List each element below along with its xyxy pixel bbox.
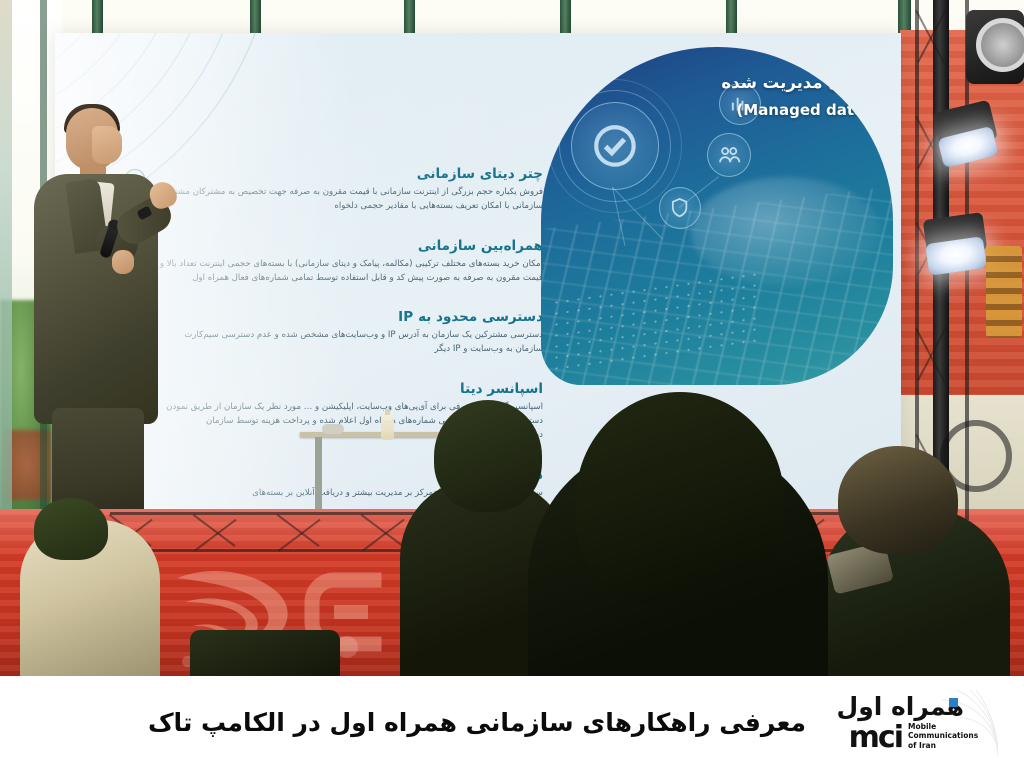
presenter (30, 108, 178, 520)
bullet-body: امکان خرید بسته‌های مختلف ترکیبی (مکالمه… (156, 258, 543, 286)
bullet-heading: همراه‌بین سازمانی (156, 237, 543, 256)
rail-clamp (322, 424, 344, 434)
logo-tagline: Mobile Communications of Iran (908, 722, 974, 750)
audience-head-left (34, 498, 108, 560)
bullet-body: دسترسی مشترکین یک سازمان به آدرس IP و وب… (156, 329, 543, 357)
hand-on-keyboard (691, 177, 881, 287)
people-icon (707, 133, 751, 177)
logo-brand-fa: همراه اول (837, 692, 964, 721)
bullet-heading: چتر دیتای سازمانی (156, 165, 543, 184)
check-gear-icon (571, 102, 659, 190)
presenter-hand-right (112, 250, 134, 274)
audience-chair (190, 630, 340, 676)
logo-tagline-line2: Communications (908, 731, 974, 740)
panel-title-fa: دیتای مدیریت شده (721, 71, 871, 96)
bullet-heading: اسپانسر دیتا (156, 380, 543, 399)
bullet-item: دسترسی محدود به IP دسترسی مشترکین یک ساز… (123, 308, 543, 357)
caption-bar: معرفی راهکارهای سازمانی همراه اول در الک… (0, 676, 1024, 768)
amber-light-panel (986, 246, 1022, 338)
bullet-item: همراه‌بین سازمانی امکان خرید بسته‌های مخ… (123, 237, 543, 286)
moving-head-light (966, 10, 1024, 84)
logo-accent-square (949, 698, 958, 707)
wall-edge-strip (0, 0, 12, 560)
logo-tagline-line3: of Iran (908, 741, 974, 750)
event-photo: دیتای مدیریت شده (Managed data) چتر دیتا… (0, 0, 1024, 676)
bullet-body: فروش یکباره حجم بزرگی از اینترنت سازمانی… (156, 186, 543, 214)
shield-icon (659, 187, 701, 229)
water-bottle (381, 414, 394, 440)
stage-rail-leg (315, 437, 322, 509)
bullet-item: چتر دیتای سازمانی فروش یکباره حجم بزرگی … (123, 165, 543, 214)
audience-head-center-left (434, 400, 542, 512)
screenshot-root: دیتای مدیریت شده (Managed data) چتر دیتا… (0, 0, 1024, 768)
presenter-face (92, 126, 122, 164)
audience-head-right (838, 446, 958, 554)
panel-title-block: دیتای مدیریت شده (Managed data) (721, 71, 871, 121)
logo-tagline-line1: Mobile (908, 722, 974, 731)
mci-logo: همراه اول mci Mobile Communications of I… (802, 690, 998, 756)
managed-data-panel: دیتای مدیریت شده (Managed data) (541, 47, 893, 385)
panel-title-en: (Managed data) (721, 99, 871, 122)
bullet-heading: دسترسی محدود به IP (156, 308, 543, 327)
audience-head-center (576, 392, 784, 606)
logo-brand-en: mci (849, 720, 902, 755)
